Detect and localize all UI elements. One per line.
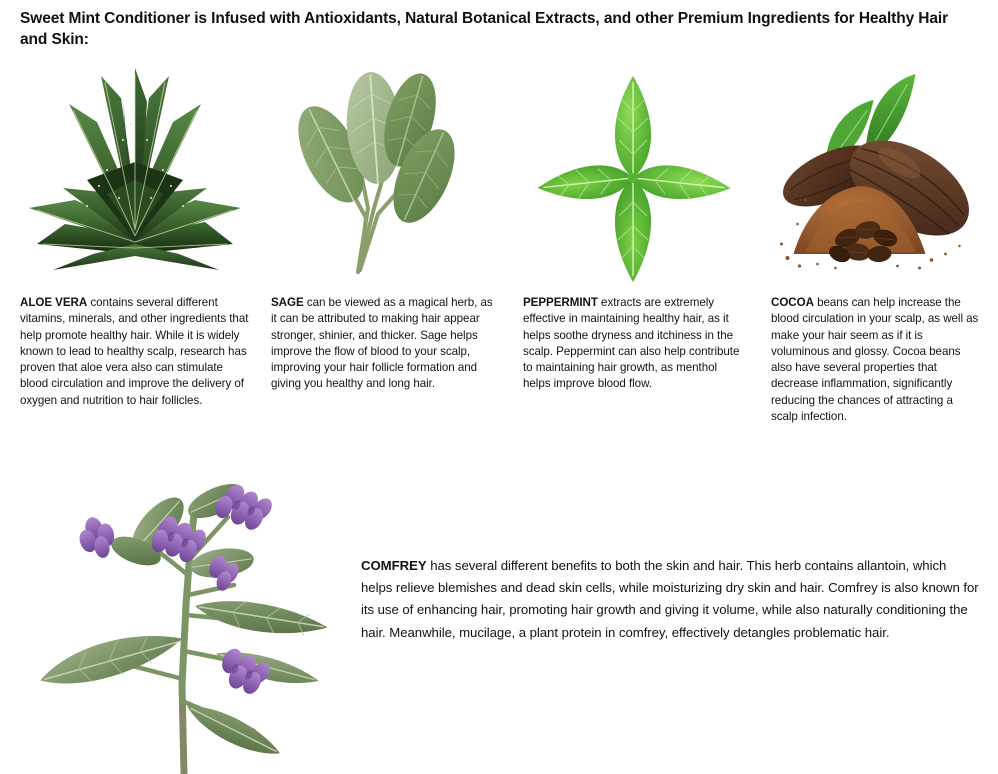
ingredient-description: PEPPERMINT extracts are extremely effect… <box>523 295 743 393</box>
ingredient-body: beans can help increase the blood circul… <box>771 296 978 423</box>
sage-leaves-photo <box>271 58 493 283</box>
ingredient-description: ALOE VERA contains several different vit… <box>20 295 254 409</box>
ingredient-body: contains several different vitamins, min… <box>20 296 248 407</box>
ingredient-name: SAGE <box>271 296 304 309</box>
ingredient-body: extracts are extremely effective in main… <box>523 296 739 390</box>
ingredient-body: has several different benefits to both t… <box>361 558 979 640</box>
cocoa-pods-powder-beans-photo <box>771 58 982 283</box>
comfrey-section: COMFREY has several different benefits t… <box>0 455 998 774</box>
ingredient-name: COMFREY <box>361 558 427 573</box>
ingredient-description: SAGE can be viewed as a magical herb, as… <box>271 295 493 393</box>
peppermint-leaves-photo <box>523 58 743 283</box>
ingredient-card-peppermint: PEPPERMINT extracts are extremely effect… <box>523 58 743 393</box>
ingredient-card-cocoa: COCOA beans can help increase the blood … <box>771 58 982 425</box>
ingredient-name: PEPPERMINT <box>523 296 598 309</box>
aloe-vera-plant-photo <box>20 58 254 283</box>
ingredient-description: COCOA beans can help increase the blood … <box>771 295 982 425</box>
ingredient-card-aloe-vera: ALOE VERA contains several different vit… <box>20 58 254 409</box>
ingredient-card-sage: SAGE can be viewed as a magical herb, as… <box>271 58 493 393</box>
ingredient-name: COCOA <box>771 296 814 309</box>
page-title: Sweet Mint Conditioner is Infused with A… <box>20 8 960 50</box>
product-ingredients-page: Sweet Mint Conditioner is Infused with A… <box>0 0 998 774</box>
comfrey-plant-photo <box>18 455 343 774</box>
ingredient-grid: ALOE VERA contains several different vit… <box>0 58 998 438</box>
ingredient-body: can be viewed as a magical herb, as it c… <box>271 296 493 390</box>
ingredient-name: ALOE VERA <box>20 296 87 309</box>
comfrey-description: COMFREY has several different benefits t… <box>361 555 979 644</box>
